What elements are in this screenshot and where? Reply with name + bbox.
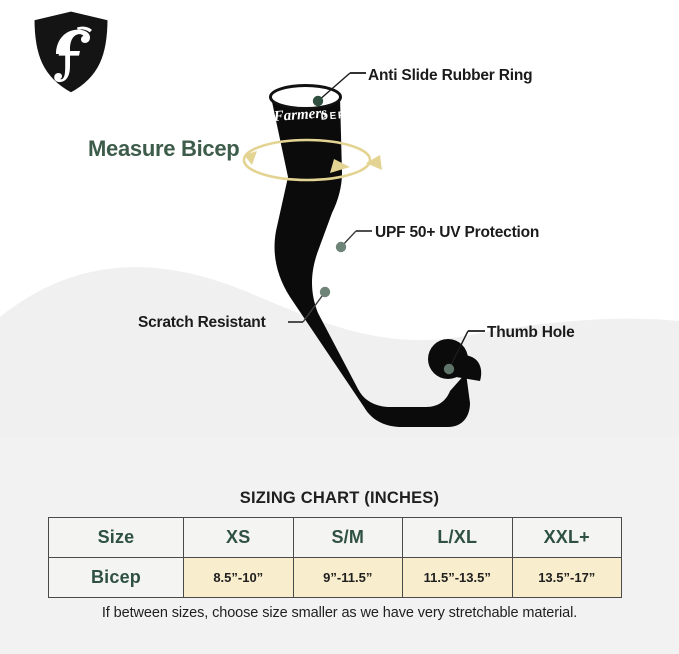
callout-label-upf-protection: UPF 50+ UV Protection (375, 224, 539, 242)
dot-upf (336, 242, 346, 252)
sizing-chart-table: Size XS S/M L/XL XXL+ Bicep 8.5”-10” 9”-… (48, 517, 622, 598)
callout-label-anti-slide-rubber-ring: Anti Slide Rubber Ring (368, 67, 532, 85)
table-cell-bicep-sm: 9”-11.5” (293, 558, 403, 598)
infographic-page: Farmers DEFENSE Anti Slide Rubbe (0, 0, 679, 654)
table-cell-bicep-xs: 8.5”-10” (184, 558, 294, 598)
dot-anti-slide (313, 96, 323, 106)
line-thumb (449, 331, 468, 369)
table-header-xs: XS (184, 518, 294, 558)
callout-label-scratch-resistant: Scratch Resistant (138, 314, 266, 332)
table-cell-bicep-lxl: 11.5”-13.5” (403, 558, 513, 598)
measure-bicep-label: Measure Bicep (88, 136, 239, 162)
dot-thumb (444, 364, 454, 374)
sizing-footnote: If between sizes, choose size smaller as… (0, 605, 679, 621)
callout-label-thumb-hole: Thumb Hole (487, 324, 575, 342)
table-header-size: Size (49, 518, 184, 558)
table-header-row: Size XS S/M L/XL XXL+ (49, 518, 622, 558)
table-header-xxl: XXL+ (512, 518, 622, 558)
table-row-label-bicep: Bicep (49, 558, 184, 598)
sizing-chart-title: SIZING CHART (INCHES) (0, 489, 679, 508)
dot-scratch (320, 287, 330, 297)
table-header-lxl: L/XL (403, 518, 513, 558)
table-cell-bicep-xxl: 13.5”-17” (512, 558, 622, 598)
table-header-sm: S/M (293, 518, 403, 558)
table-row: Bicep 8.5”-10” 9”-11.5” 11.5”-13.5” 13.5… (49, 558, 622, 598)
line-scratch (303, 292, 325, 322)
line-anti-slide (318, 73, 350, 101)
